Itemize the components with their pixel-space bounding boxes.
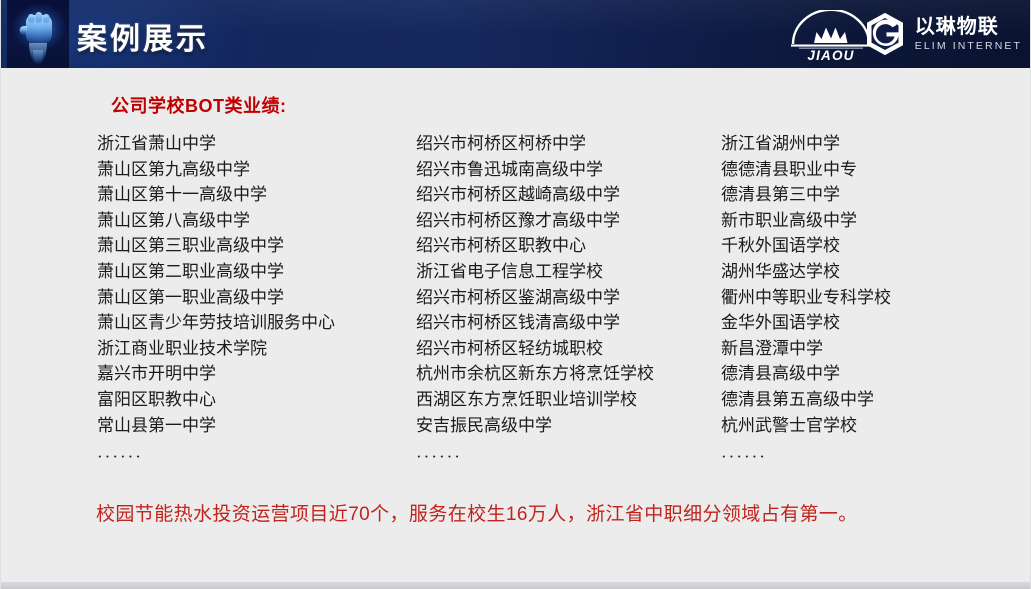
list-item: 绍兴市柯桥区职教中心 <box>416 233 654 259</box>
school-column-3: 浙江省湖州中学 德德清县职业中专 德清县第三中学 新市职业高级中学 千秋外国语学… <box>721 131 891 470</box>
slide: 案例展示 JIAOU 以琳物联 ELIM INTERNET 公司 <box>0 0 1031 589</box>
list-item: 萧山区第八高级中学 <box>97 208 335 234</box>
list-item: 萧山区第十一高级中学 <box>97 182 335 208</box>
list-item: 衢州中等职业专科学校 <box>721 285 891 311</box>
list-ellipsis: ······ <box>97 438 335 470</box>
section-title: 公司学校BOT类业绩: <box>111 92 287 118</box>
list-item: 绍兴市柯桥区越崎高级中学 <box>416 182 654 208</box>
page-title: 案例展示 <box>77 14 209 58</box>
list-item: 浙江省湖州中学 <box>721 131 891 157</box>
list-item: 新市职业高级中学 <box>721 208 891 234</box>
list-item: 杭州市余杭区新东方将烹饪学校 <box>416 361 654 387</box>
list-item: 安吉振民高级中学 <box>416 413 654 439</box>
list-item: 浙江省电子信息工程学校 <box>416 259 654 285</box>
list-item: 德清县第三中学 <box>721 182 891 208</box>
list-item: 浙江省萧山中学 <box>97 131 335 157</box>
list-item: 新昌澄潭中学 <box>721 336 891 362</box>
list-item: 绍兴市柯桥区柯桥中学 <box>416 131 654 157</box>
list-item: 千秋外国语学校 <box>721 233 891 259</box>
list-item: 富阳区职教中心 <box>97 387 335 413</box>
raised-fist-glyph <box>15 6 61 64</box>
list-item: 杭州武警士官学校 <box>721 413 891 439</box>
list-item: 德清县高级中学 <box>721 361 891 387</box>
list-item: 绍兴市鲁迅城南高级中学 <box>416 157 654 183</box>
elim-name-cn: 以琳物联 <box>915 17 1022 37</box>
list-item: 萧山区第一职业高级中学 <box>97 285 335 311</box>
list-item: 萧山区第九高级中学 <box>97 157 335 183</box>
elim-logo-text: 以琳物联 ELIM INTERNET <box>915 17 1022 52</box>
list-item: 绍兴市柯桥区鉴湖高级中学 <box>416 285 654 311</box>
svg-text:JIAOU: JIAOU <box>807 48 854 60</box>
list-item: 萧山区青少年劳技培训服务中心 <box>97 310 335 336</box>
list-item: 嘉兴市开明中学 <box>97 361 335 387</box>
list-item: 德德清县职业中专 <box>721 157 891 183</box>
list-item: 绍兴市柯桥区钱清高级中学 <box>416 310 654 336</box>
list-item: 萧山区第三职业高级中学 <box>97 233 335 259</box>
list-item: 常山县第一中学 <box>97 413 335 439</box>
list-item: 湖州华盛达学校 <box>721 259 891 285</box>
slide-header: 案例展示 JIAOU 以琳物联 ELIM INTERNET <box>1 0 1031 68</box>
school-column-1: 浙江省萧山中学 萧山区第九高级中学 萧山区第十一高级中学 萧山区第八高级中学 萧… <box>97 131 335 470</box>
list-item: 浙江商业职业技术学院 <box>97 336 335 362</box>
list-item: 绍兴市柯桥区轻纺城职校 <box>416 336 654 362</box>
list-item: 萧山区第二职业高级中学 <box>97 259 335 285</box>
raised-fist-icon <box>7 0 69 68</box>
list-item: 绍兴市柯桥区豫才高级中学 <box>416 208 654 234</box>
list-ellipsis: ······ <box>416 438 654 470</box>
list-ellipsis: ······ <box>721 438 891 470</box>
arch-sunrise-crown-icon <box>791 10 871 49</box>
hexagon-g-icon <box>863 12 907 56</box>
school-column-2: 绍兴市柯桥区柯桥中学 绍兴市鲁迅城南高级中学 绍兴市柯桥区越崎高级中学 绍兴市柯… <box>416 131 654 470</box>
elim-name-en: ELIM INTERNET <box>915 41 1022 52</box>
list-item: 德清县第五高级中学 <box>721 387 891 413</box>
list-item: 西湖区东方烹饪职业培训学校 <box>416 387 654 413</box>
summary-footnote: 校园节能热水投资运营项目近70个，服务在校生16万人，浙江省中职细分领域占有第一… <box>96 499 858 526</box>
elim-logo: 以琳物联 ELIM INTERNET <box>863 11 1022 57</box>
list-item: 金华外国语学校 <box>721 310 891 336</box>
